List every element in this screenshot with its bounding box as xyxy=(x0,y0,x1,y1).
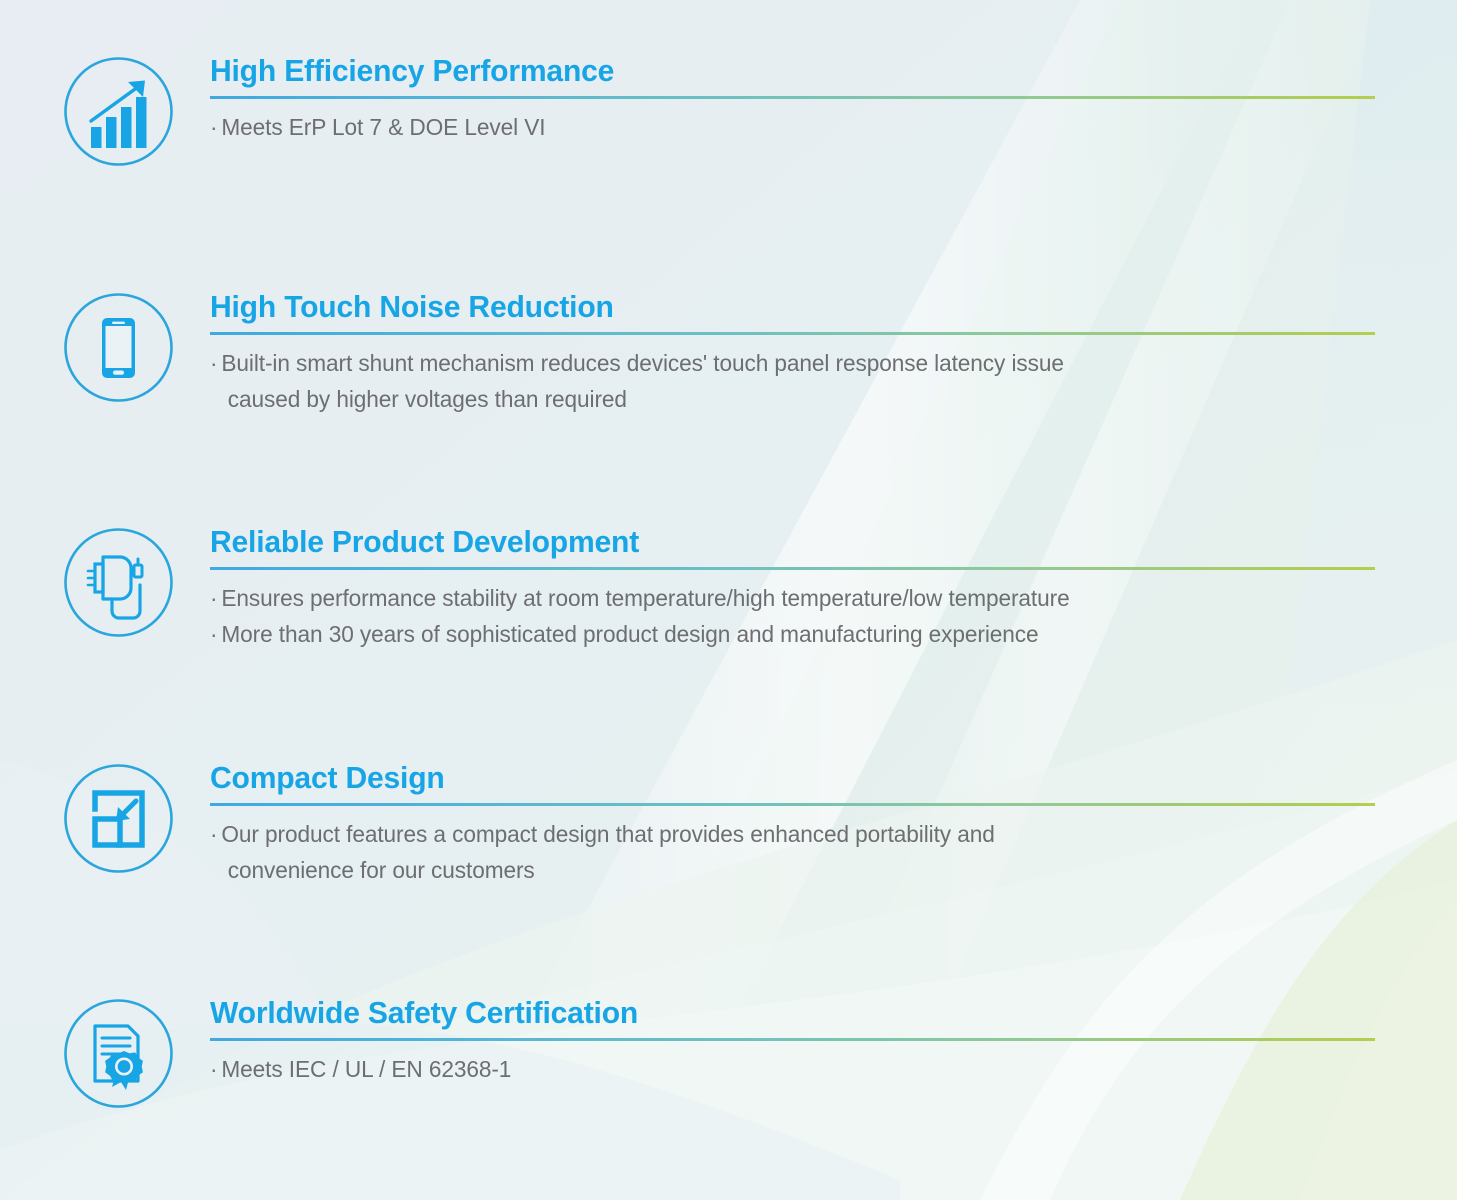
feature-body: High Touch Noise Reduction ·Built-in sma… xyxy=(210,291,1390,417)
description-line: convenience for our customers xyxy=(210,853,1372,889)
description-line: caused by higher voltages than required xyxy=(210,382,1372,418)
certificate-seal-icon xyxy=(62,997,175,1110)
compact-resize-icon xyxy=(62,762,175,875)
description-text: Meets IEC / UL / EN 62368-1 xyxy=(221,1056,511,1082)
feature-title: Reliable Product Development xyxy=(210,526,1355,557)
bullet-marker: · xyxy=(210,350,217,376)
feature-divider xyxy=(210,803,1375,806)
feature-title: High Efficiency Performance xyxy=(210,55,1355,86)
feature-list: High Efficiency Performance ·Meets ErP L… xyxy=(0,0,1457,1200)
bullet-marker: · xyxy=(210,114,217,140)
description-text: Meets ErP Lot 7 & DOE Level VI xyxy=(221,114,545,140)
bullet-marker: · xyxy=(210,585,217,611)
description-text: Built-in smart shunt mechanism reduces d… xyxy=(221,350,1063,376)
bullet-marker: · xyxy=(210,1056,217,1082)
feature-body: Worldwide Safety Certification ·Meets IE… xyxy=(210,997,1390,1088)
feature-divider xyxy=(210,1038,1375,1041)
feature-title: High Touch Noise Reduction xyxy=(210,291,1355,322)
feature-title: Compact Design xyxy=(210,762,1355,793)
feature-divider xyxy=(210,96,1375,99)
description-text: Ensures performance stability at room te… xyxy=(221,585,1069,611)
description-line: ·Meets ErP Lot 7 & DOE Level VI xyxy=(210,110,1372,146)
description-line: ·More than 30 years of sophisticated pro… xyxy=(210,617,1372,653)
bullet-marker: · xyxy=(210,821,217,847)
feature-divider xyxy=(210,567,1375,570)
feature-title: Worldwide Safety Certification xyxy=(210,997,1355,1028)
power-adapter-icon xyxy=(62,526,175,639)
feature-description: ·Built-in smart shunt mechanism reduces … xyxy=(210,346,1372,417)
description-line: ·Meets IEC / UL / EN 62368-1 xyxy=(210,1052,1372,1088)
feature-description: ·Our product features a compact design t… xyxy=(210,817,1372,888)
description-line: ·Our product features a compact design t… xyxy=(210,817,1372,853)
feature-divider xyxy=(210,332,1375,335)
feature-body: Reliable Product Development ·Ensures pe… xyxy=(210,526,1390,652)
bullet-marker: · xyxy=(210,621,217,647)
feature-description: ·Meets ErP Lot 7 & DOE Level VI xyxy=(210,110,1372,146)
description-line: ·Ensures performance stability at room t… xyxy=(210,581,1372,617)
feature-description: ·Meets IEC / UL / EN 62368-1 xyxy=(210,1052,1372,1088)
feature-body: Compact Design ·Our product features a c… xyxy=(210,762,1390,888)
description-text: More than 30 years of sophisticated prod… xyxy=(221,621,1038,647)
feature-body: High Efficiency Performance ·Meets ErP L… xyxy=(210,55,1390,146)
bar-chart-growth-icon xyxy=(62,55,175,168)
smartphone-icon xyxy=(62,291,175,404)
description-line: ·Built-in smart shunt mechanism reduces … xyxy=(210,346,1372,382)
feature-description: ·Ensures performance stability at room t… xyxy=(210,581,1372,652)
description-text: Our product features a compact design th… xyxy=(221,821,994,847)
